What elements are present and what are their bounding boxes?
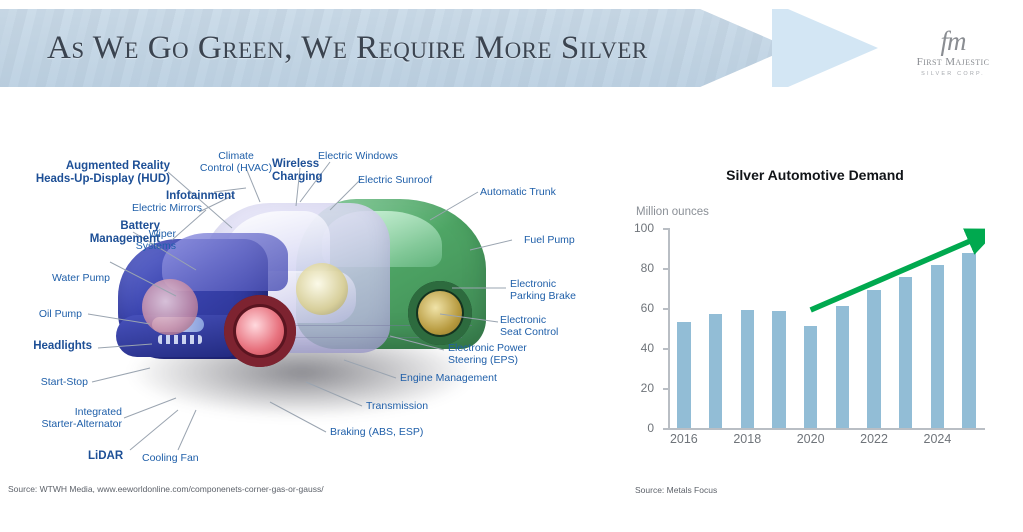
callout-climate-control: Climate Control (HVAC)	[198, 150, 274, 174]
callout-braking-abs-esp: Braking (ABS, ESP)	[330, 426, 440, 438]
callout-electric-mirrors: Electric Mirrors	[118, 202, 202, 214]
callout-fuel-pump: Fuel Pump	[524, 234, 590, 246]
chart-x-tick-label: 2022	[860, 432, 888, 446]
callout-augmented-reality-hud: Augmented Reality Heads-Up-Display (HUD)	[20, 160, 170, 186]
chart-x-tick-label: 2024	[924, 432, 952, 446]
logo-monogram-icon: fm	[897, 27, 1009, 55]
chart-y-axis-unit-label: Million ounces	[636, 206, 709, 218]
page-title: As We Go Green, We Require More Silver	[47, 9, 648, 87]
chart-y-tick: 80	[663, 268, 668, 270]
chart-y-tick-label: 20	[641, 381, 654, 395]
chart-bar	[931, 265, 944, 428]
chart-y-tick: 20	[663, 388, 668, 390]
callout-engine-management: Engine Management	[400, 372, 510, 384]
callout-electronic-parking-brake: Electronic Parking Brake	[510, 278, 590, 302]
chart-y-tick: 60	[663, 308, 668, 310]
chart-x-tick-label: 2018	[733, 432, 761, 446]
chart-x-tick-label: 2016	[670, 432, 698, 446]
banner-chevron-accent	[772, 9, 878, 87]
callout-water-pump: Water Pump	[40, 272, 110, 284]
chart-y-tick-label: 0	[647, 421, 654, 435]
chart-bar	[836, 306, 849, 428]
callout-transmission: Transmission	[366, 400, 452, 412]
callout-start-stop: Start-Stop	[26, 376, 88, 388]
chart-y-tick: 40	[663, 348, 668, 350]
callout-electric-windows: Electric Windows	[318, 150, 410, 162]
chart-bar	[772, 311, 785, 428]
chart-y-tick: 100	[663, 228, 668, 230]
chart-y-tick-label: 60	[641, 301, 654, 315]
chart-title: Silver Automotive Demand	[620, 167, 1010, 183]
chart-x-tick-label: 2020	[797, 432, 825, 446]
chart-y-tick: 0	[663, 428, 668, 430]
callout-electric-sunroof: Electric Sunroof	[358, 174, 448, 186]
callout-headlights: Headlights	[20, 340, 92, 353]
callout-infotainment: Infotainment	[166, 190, 266, 203]
chart-x-axis	[668, 428, 985, 430]
silver-automotive-demand-chart: Silver Automotive Demand Million ounces …	[620, 150, 1023, 500]
chart-bar	[962, 253, 975, 428]
header-band: As We Go Green, We Require More Silver f…	[0, 9, 1023, 87]
logo-company-name: First Majestic	[897, 56, 1009, 69]
callout-automatic-trunk: Automatic Trunk	[480, 186, 574, 198]
chart-source: Source: Metals Focus	[635, 485, 717, 495]
chart-y-tick-label: 80	[641, 261, 654, 275]
chart-bar	[804, 326, 817, 428]
chart-bar	[867, 290, 880, 428]
callout-oil-pump: Oil Pump	[20, 308, 82, 320]
callout-electronic-power-steering: Electronic Power Steering (EPS)	[448, 342, 548, 366]
chart-bar	[741, 310, 754, 428]
callout-wiper-systems: Wiper Systems	[128, 228, 176, 252]
company-logo: fm First Majestic SILVER CORP.	[897, 27, 1009, 85]
chart-bar	[677, 322, 690, 428]
chart-bar	[709, 314, 722, 428]
car-diagram-panel: Augmented Reality Heads-Up-Display (HUD)…	[0, 110, 600, 500]
logo-tagline: SILVER CORP.	[897, 71, 1009, 77]
callout-lidar: LiDAR	[88, 450, 148, 463]
chart-y-axis	[668, 228, 670, 428]
callout-cooling-fan: Cooling Fan	[142, 452, 212, 464]
chart-y-tick-label: 100	[634, 221, 654, 235]
callout-integrated-starter-alternator: Integrated Starter-Alternator	[32, 406, 122, 430]
chart-plot-area: 020406080100 20162018202020222024	[668, 228, 985, 428]
chart-bar	[899, 277, 912, 428]
callout-electronic-seat-control: Electronic Seat Control	[500, 314, 576, 338]
car-diagram-source: Source: WTWH Media, www.eeworldonline.co…	[8, 484, 324, 494]
chart-y-tick-label: 40	[641, 341, 654, 355]
